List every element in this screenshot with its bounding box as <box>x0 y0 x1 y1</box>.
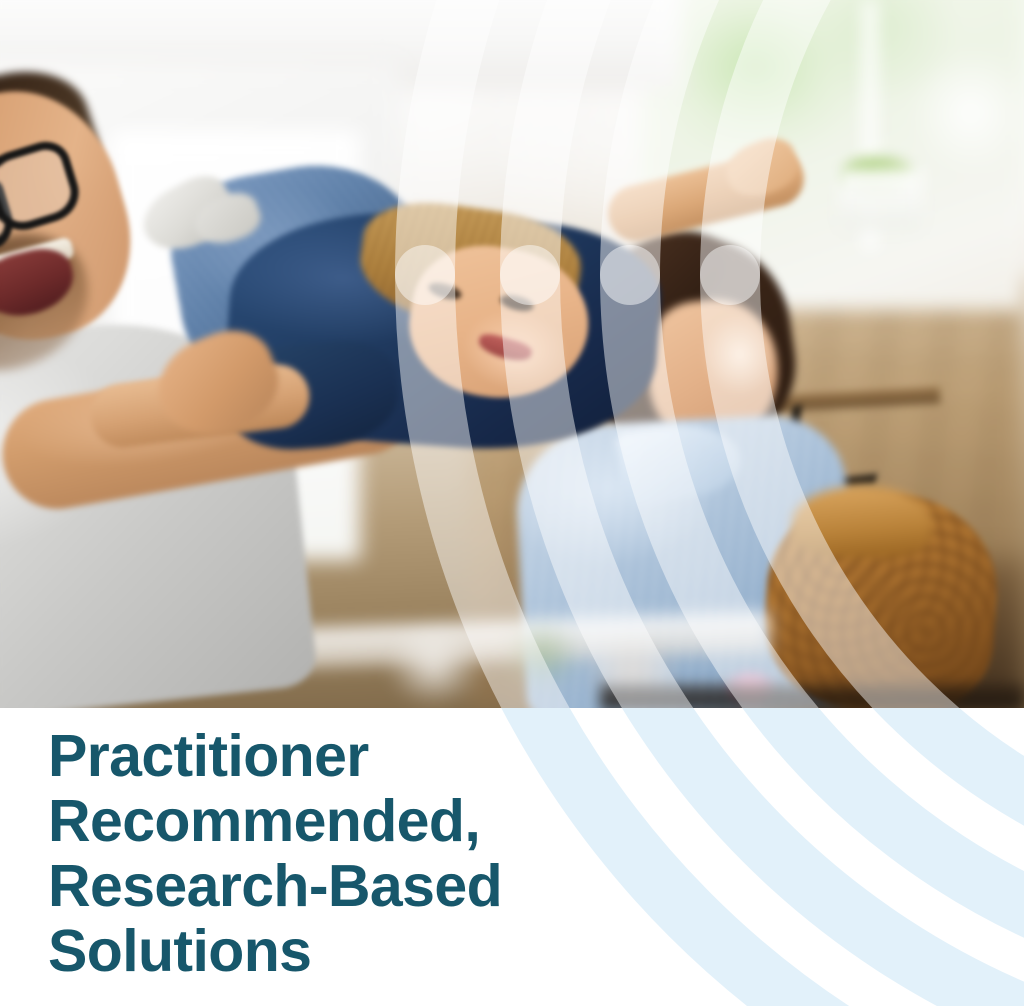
headline-panel: Practitioner Recommended, Research-Based… <box>0 708 1024 1006</box>
arc-band-1-panel <box>730 708 1024 875</box>
page-title: Practitioner Recommended, Research-Based… <box>48 724 668 984</box>
headline-line-3: Research-Based <box>48 854 668 919</box>
hero-card: Practitioner Recommended, Research-Based… <box>0 0 1024 1006</box>
curly-child-crown <box>792 486 932 558</box>
headline-line-2: Recommended, <box>48 789 668 854</box>
headline-line-1: Practitioner <box>48 724 668 789</box>
headline-line-4: Solutions <box>48 919 668 984</box>
arc-band-2-panel <box>630 708 1024 975</box>
family-photo <box>0 0 1024 708</box>
plant-pot <box>838 168 924 230</box>
photo-lower-shadow <box>600 684 1024 708</box>
